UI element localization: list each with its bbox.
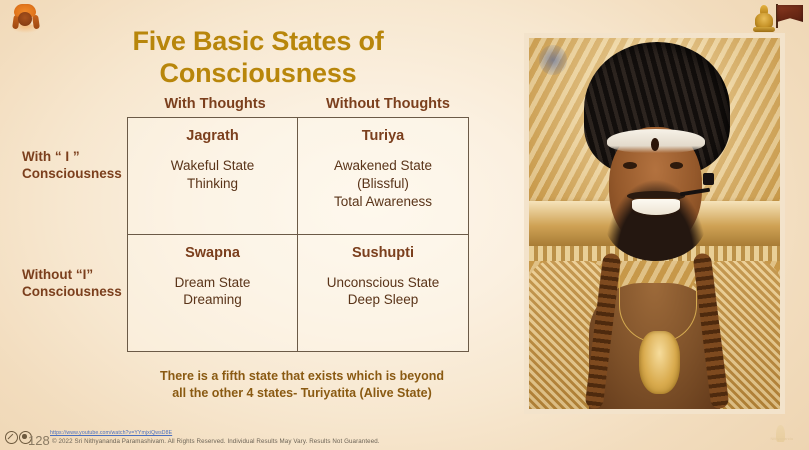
matrix-cell-swapna: Swapna Dream State Dreaming — [128, 235, 298, 352]
portrait-gold-pendant — [639, 331, 679, 394]
cell-desc-line-1: Awakened State — [306, 157, 460, 175]
title-line-2: Consciousness — [78, 58, 438, 90]
cell-desc-line-1: Unconscious State — [306, 274, 460, 292]
cell-description: Awakened State (Blissful) Total Awarenes… — [306, 157, 460, 210]
cell-term: Sushupti — [306, 245, 460, 261]
portrait-microphone-mount — [703, 173, 714, 185]
cell-description: Wakeful State Thinking — [136, 157, 289, 193]
cell-desc-line-2: (Blissful) — [306, 175, 460, 193]
matrix-cell-jagrath: Jagrath Wakeful State Thinking — [128, 118, 298, 235]
cell-term: Swapna — [136, 245, 289, 261]
row-header-2-line-1: Without “I” — [22, 267, 138, 284]
title-line-1: Five Basic States of — [78, 26, 438, 58]
column-header-with-thoughts: With Thoughts — [130, 96, 300, 112]
states-matrix-table: Jagrath Wakeful State Thinking Turiya Aw… — [127, 117, 469, 352]
row-header-without-i-consciousness: Without “I” Consciousness — [22, 267, 138, 301]
note-line-2: all the other 4 states- Turiyatita (Aliv… — [128, 385, 476, 402]
youtube-source-link[interactable]: https://www.youtube.com/watch?v=YYmjxiQw… — [50, 430, 172, 436]
bottom-right-watermark: Nithyananda — [759, 422, 793, 442]
cell-description: Dream State Dreaming — [136, 274, 289, 310]
corner-ornament-right — [749, 2, 805, 36]
slide-title: Five Basic States of Consciousness — [78, 26, 438, 90]
swami-avatar-icon — [8, 2, 44, 34]
avatar-hair-right — [32, 15, 40, 30]
matrix-cell-sushupti: Sushupti Unconscious State Deep Sleep — [298, 235, 468, 352]
deity-base — [753, 27, 775, 32]
watermark-label: Nithyananda — [771, 436, 793, 441]
page-number: 128 — [28, 433, 50, 448]
row-header-with-i-consciousness: With “ I ” Consciousness — [22, 149, 138, 183]
creative-commons-icon — [5, 431, 18, 444]
portrait-eye-left — [623, 162, 637, 169]
portrait-frame — [524, 33, 785, 414]
portrait-watermark — [539, 45, 567, 75]
cell-desc-line-2: Thinking — [136, 175, 289, 193]
cell-term: Turiya — [306, 128, 460, 144]
cell-description: Unconscious State Deep Sleep — [306, 274, 460, 310]
column-header-without-thoughts: Without Thoughts — [303, 96, 473, 112]
cell-term: Jagrath — [136, 128, 289, 144]
portrait-bindi — [651, 138, 659, 151]
flag-icon — [777, 5, 803, 22]
cell-desc-line-1: Wakeful State — [136, 157, 289, 175]
guru-portrait-photo — [529, 38, 780, 409]
fifth-state-note: There is a fifth state that exists which… — [128, 368, 476, 403]
cell-desc-line-2: Dreaming — [136, 291, 289, 309]
row-header-2-line-2: Consciousness — [22, 284, 138, 301]
portrait-eye-right — [670, 162, 684, 169]
copyright-text: © 2022 Sri Nithyananda Paramashivam. All… — [52, 438, 380, 445]
row-header-1-line-1: With “ I ” — [22, 149, 138, 166]
matrix-cell-turiya: Turiya Awakened State (Blissful) Total A… — [298, 118, 468, 235]
row-header-1-line-2: Consciousness — [22, 166, 138, 183]
cell-desc-line-1: Dream State — [136, 274, 289, 292]
cell-desc-line-3: Total Awareness — [306, 193, 460, 211]
note-line-1: There is a fifth state that exists which… — [128, 368, 476, 385]
slide-canvas: Five Basic States of Consciousness With … — [0, 0, 809, 450]
deity-statue-icon — [753, 5, 775, 31]
slide-footer: 128 https://www.youtube.com/watch?v=YYmj… — [0, 424, 809, 450]
cell-desc-line-2: Deep Sleep — [306, 291, 460, 309]
avatar-face — [18, 12, 32, 26]
